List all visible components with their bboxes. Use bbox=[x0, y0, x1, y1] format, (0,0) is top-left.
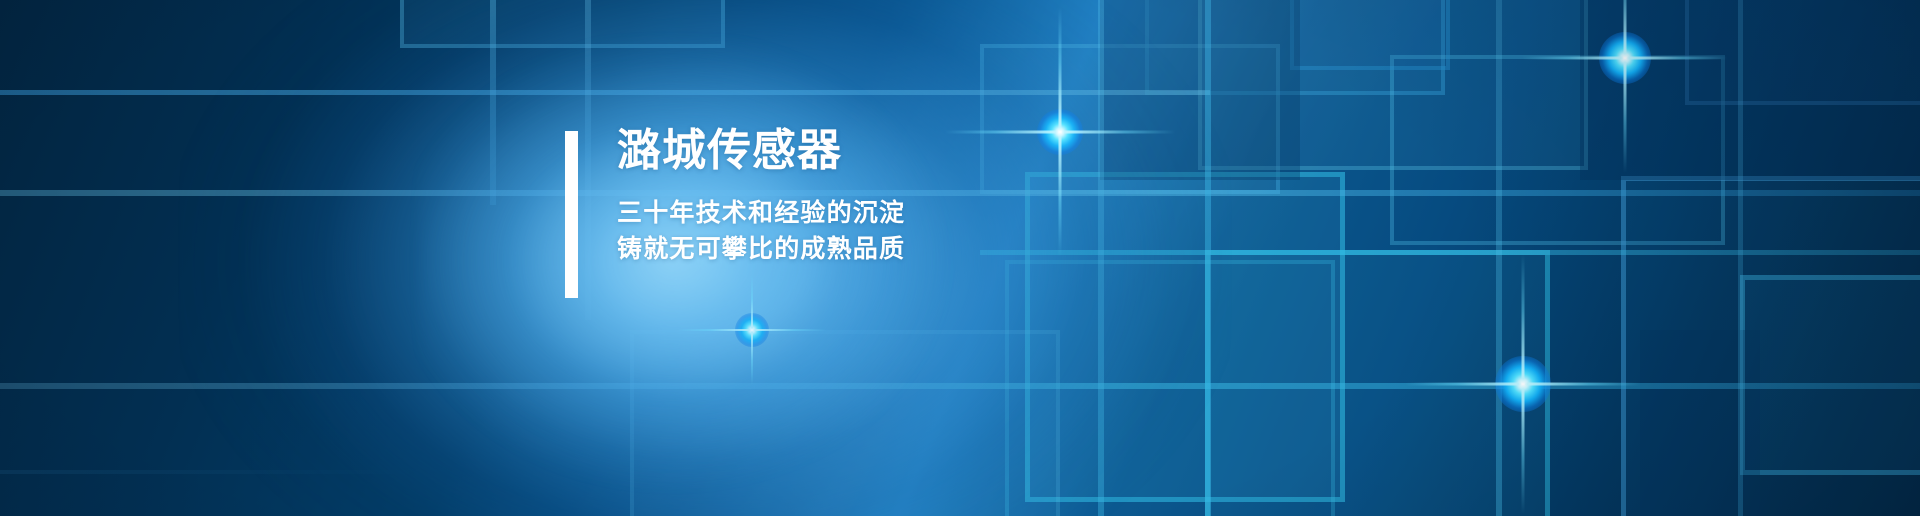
hero-text-column: 潞城传感器 三十年技术和经验的沉淀 铸就无可攀比的成熟品质 bbox=[617, 128, 905, 267]
hero-subtitle-line-1: 三十年技术和经验的沉淀 bbox=[617, 196, 905, 232]
white-vertical-accent-bar bbox=[565, 131, 578, 298]
hero-headline: 潞城传感器 bbox=[617, 128, 905, 174]
hero-text-block: 潞城传感器 三十年技术和经验的沉淀 铸就无可攀比的成熟品质 bbox=[565, 128, 905, 298]
hero-banner: 潞城传感器 三十年技术和经验的沉淀 铸就无可攀比的成熟品质 bbox=[0, 0, 1920, 516]
hero-subtitle-line-2: 铸就无可攀比的成熟品质 bbox=[617, 232, 905, 268]
